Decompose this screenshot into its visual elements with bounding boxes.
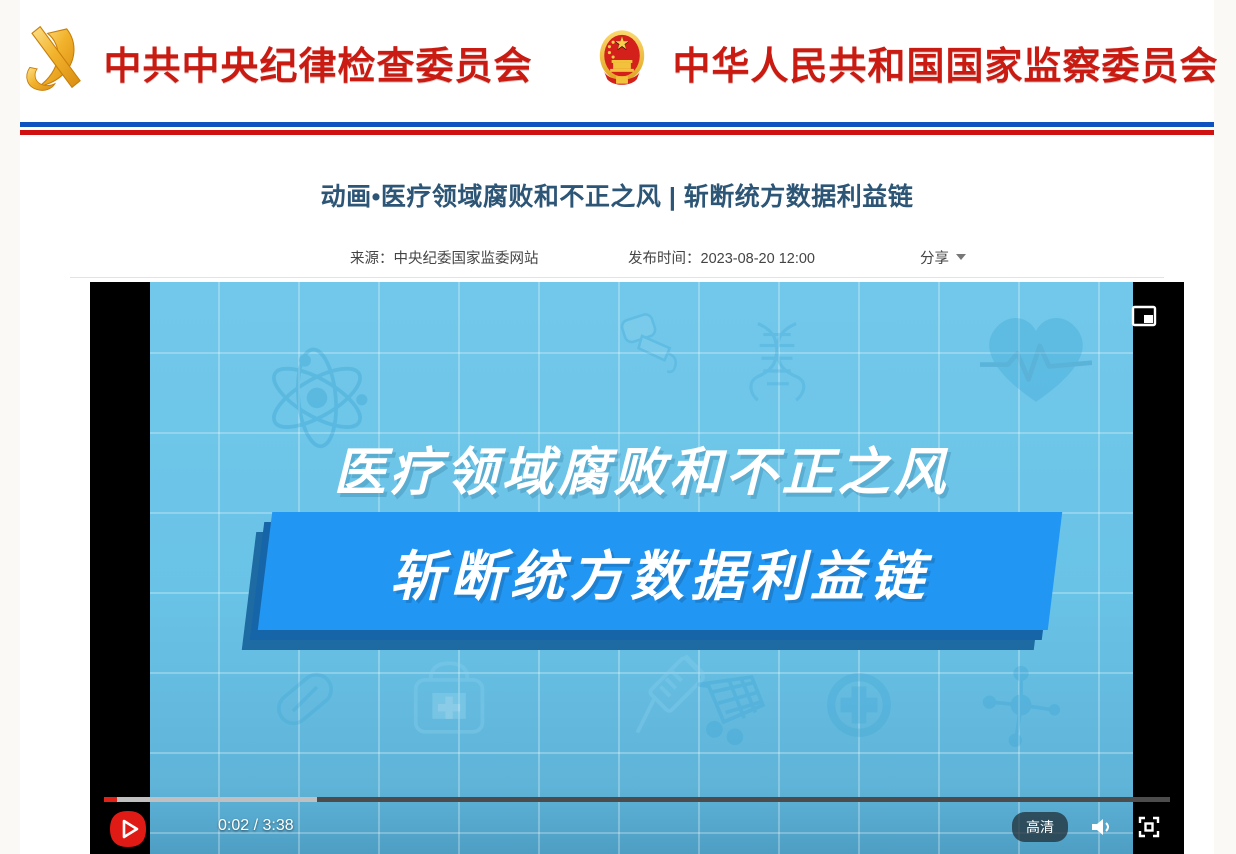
- site-masthead: 中共中央纪律检查委员会: [20, 0, 1214, 124]
- brand-nsc-label: 中华人民共和国国家监察委员会: [673, 35, 1219, 90]
- molecule-icon: [978, 662, 1064, 748]
- chevron-down-icon: [956, 254, 966, 260]
- player-right-controls: 高清: [1012, 812, 1164, 842]
- content-column: 中共中央纪律检查委员会: [20, 0, 1214, 854]
- video-banner: 斩断统方数据利益链: [245, 510, 1045, 650]
- volume-icon[interactable]: [1086, 812, 1116, 842]
- page-title: 动画•医疗领域腐败和不正之风 | 斩断统方数据利益链: [20, 135, 1214, 214]
- quality-button[interactable]: 高清: [1012, 812, 1068, 842]
- article-meta-row: 来源：中央纪委国家监委网站 发布时间：2023-08-20 12:00 分享: [70, 244, 1164, 278]
- banner-face: 斩断统方数据利益链: [258, 512, 1062, 630]
- hammer-sickle-emblem-icon: [15, 23, 89, 102]
- picture-in-picture-icon[interactable]: [1122, 294, 1166, 338]
- article-publish-time: 发布时间：2023-08-20 12:00: [628, 247, 815, 268]
- fullscreen-icon[interactable]: [1134, 812, 1164, 842]
- pill-capsule-icon: [268, 662, 342, 736]
- brand-nsc[interactable]: 中华人民共和国国家监察委员会: [585, 23, 1219, 102]
- medical-bag-icon: [408, 654, 492, 742]
- divider-blue: [20, 122, 1214, 127]
- dropper-bottle-icon: [614, 310, 696, 388]
- national-emblem-icon: [585, 23, 659, 102]
- progress-played: [104, 797, 117, 802]
- share-button[interactable]: 分享: [920, 247, 966, 268]
- dna-helix-icon: [742, 320, 812, 402]
- play-icon[interactable]: [108, 809, 148, 849]
- share-label: 分享: [920, 247, 949, 268]
- page-root: 中共中央纪律检查委员会: [0, 0, 1236, 854]
- video-player[interactable]: 医疗领域腐败和不正之风 斩断统方数据利益链: [90, 282, 1184, 854]
- video-headline: 医疗领域腐败和不正之风: [150, 430, 1133, 505]
- brand-ccdi[interactable]: 中共中央纪律检查委员会: [15, 23, 532, 102]
- time-display: 0:02 / 3:38: [218, 817, 294, 835]
- video-stage: 医疗领域腐败和不正之风 斩断统方数据利益链: [150, 282, 1133, 854]
- article-header: 动画•医疗领域腐败和不正之风 | 斩断统方数据利益链 来源：中央纪委国家监委网站…: [20, 135, 1214, 278]
- video-banner-text: 斩断统方数据利益链: [390, 532, 930, 611]
- medical-cross-icon: [822, 668, 896, 742]
- player-controls: 0:02 / 3:38 高清: [90, 804, 1184, 854]
- brand-ccdi-label: 中共中央纪律检查委员会: [103, 35, 532, 90]
- progress-buffered: [104, 797, 317, 802]
- heart-pulse-icon: [980, 308, 1092, 408]
- article-source: 来源：中央纪委国家监委网站: [350, 247, 539, 268]
- progress-bar[interactable]: [104, 797, 1170, 802]
- shopping-cart-icon: [692, 664, 776, 748]
